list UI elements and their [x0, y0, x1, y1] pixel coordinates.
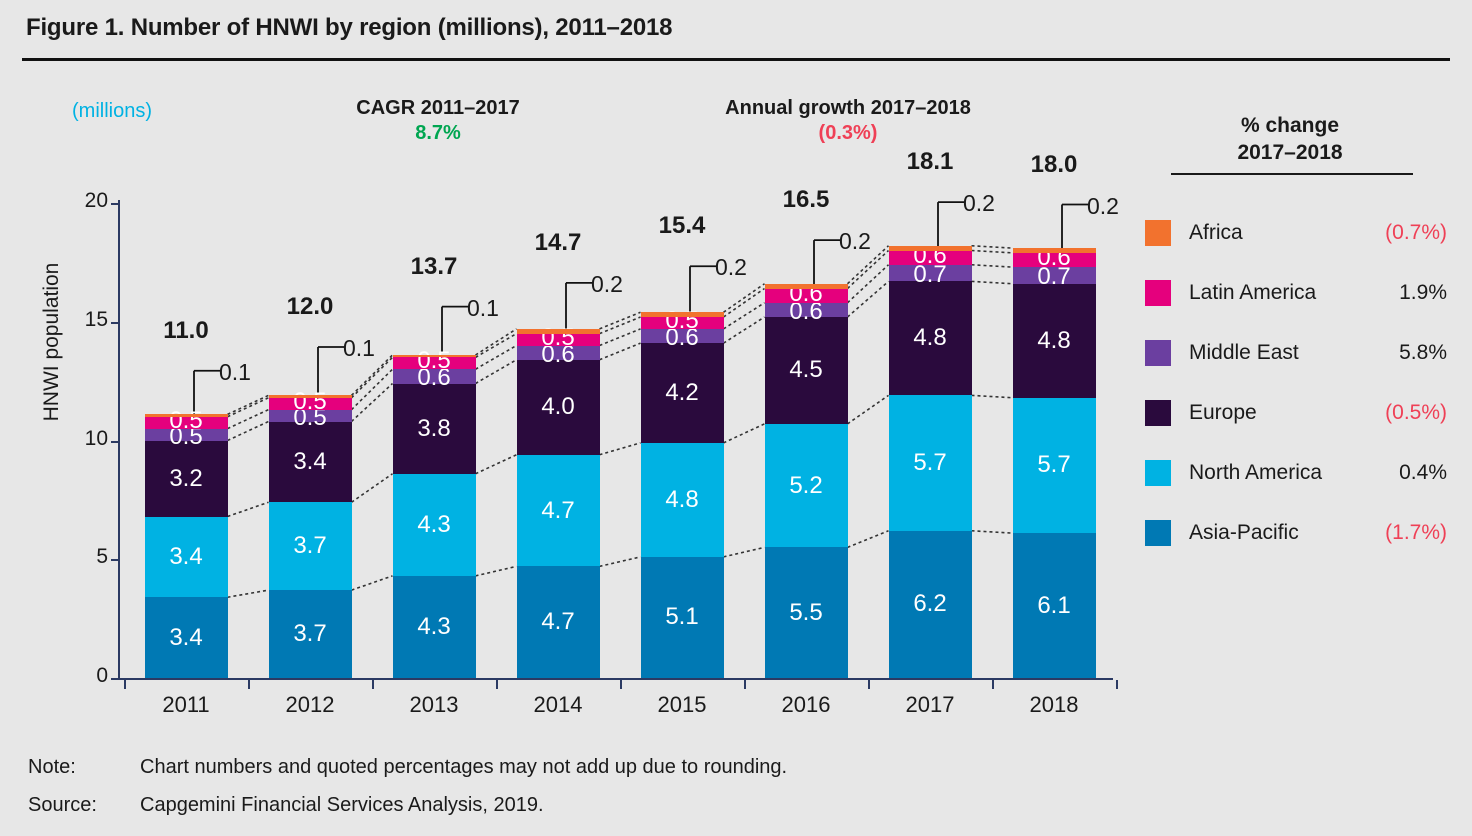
connector-line	[600, 557, 641, 567]
connector-line	[600, 343, 641, 360]
segment-middle-east[interactable]: 0.7	[889, 265, 972, 282]
connector-line	[848, 251, 889, 289]
connector-line	[228, 398, 269, 417]
segment-latin-america[interactable]: 0.5	[393, 357, 476, 369]
africa-callout-label: 0.2	[839, 228, 871, 255]
segment-asia-pacific[interactable]: 6.1	[1013, 533, 1096, 678]
africa-callout-label: 0.1	[219, 359, 251, 386]
segment-asia-pacific[interactable]: 4.3	[393, 576, 476, 678]
segment-africa[interactable]	[269, 395, 352, 397]
segment-value-label: 4.3	[417, 513, 450, 537]
connector-line	[600, 329, 641, 346]
y-axis-tick-label: 15	[64, 308, 108, 332]
connector-line	[352, 384, 393, 422]
segment-value-label: 6.2	[913, 592, 946, 616]
segment-value-label: 3.4	[293, 450, 326, 474]
note-label: Note:	[28, 756, 76, 779]
segment-value-label: 5.1	[665, 605, 698, 629]
segment-asia-pacific[interactable]: 6.2	[889, 531, 972, 678]
legend-item-label: Africa	[1189, 221, 1243, 245]
legend-heading-line2: 2017–2018	[1237, 141, 1342, 164]
segment-europe[interactable]: 4.8	[889, 281, 972, 395]
africa-callout-label: 0.2	[963, 190, 995, 217]
connector-line	[600, 317, 641, 334]
legend-item-label: Europe	[1189, 401, 1257, 425]
bar-2015[interactable]: 5.14.84.20.60.5	[641, 312, 724, 678]
segment-latin-america[interactable]: 0.6	[889, 251, 972, 265]
connector-line	[476, 329, 517, 355]
x-axis-tick-label: 2015	[622, 692, 742, 718]
legend-item-africa[interactable]: Africa(0.7%)	[1145, 213, 1455, 253]
connector-line	[724, 424, 765, 443]
segment-north-america[interactable]: 5.7	[1013, 398, 1096, 533]
legend-item-percent: (0.7%)	[1385, 221, 1455, 245]
segment-europe[interactable]: 4.2	[641, 343, 724, 443]
legend-item-percent: 5.8%	[1399, 341, 1455, 365]
bar-2013[interactable]: 4.34.33.80.60.5	[393, 353, 476, 678]
x-axis-tick-label: 2011	[126, 692, 246, 718]
x-axis-tick-mark	[868, 680, 870, 689]
segment-asia-pacific[interactable]: 5.1	[641, 557, 724, 678]
x-axis-tick-mark	[248, 680, 250, 689]
segment-value-label: 3.2	[169, 467, 202, 491]
segment-europe[interactable]: 4.0	[517, 360, 600, 455]
segment-middle-east[interactable]: 0.7	[1013, 267, 1096, 284]
connector-line	[848, 395, 889, 424]
connector-line	[476, 334, 517, 358]
connector-line	[972, 251, 1013, 253]
segment-europe[interactable]: 3.4	[269, 422, 352, 503]
bar-2014[interactable]: 4.74.74.00.60.5	[517, 329, 600, 678]
segment-europe[interactable]: 4.5	[765, 317, 848, 424]
segment-africa[interactable]	[145, 414, 228, 416]
africa-callout-label: 0.1	[467, 295, 499, 322]
connector-line	[476, 360, 517, 384]
segment-latin-america[interactable]: 0.6	[765, 289, 848, 303]
bar-total-label: 18.0	[984, 151, 1124, 179]
legend-rows: Africa(0.7%)Latin America1.9%Middle East…	[1145, 213, 1455, 553]
connector-line	[972, 281, 1013, 283]
segment-latin-america[interactable]: 0.5	[269, 398, 352, 410]
segment-middle-east[interactable]: 0.6	[641, 329, 724, 343]
x-axis-tick-label: 2013	[374, 692, 494, 718]
y-axis-tick-label: 0	[64, 664, 108, 688]
x-axis-tick-mark	[620, 680, 622, 689]
connector-line	[724, 289, 765, 318]
segment-value-label: 4.8	[913, 326, 946, 350]
segment-value-label: 4.5	[789, 358, 822, 382]
segment-value-label: 4.8	[665, 488, 698, 512]
segment-middle-east[interactable]: 0.5	[145, 429, 228, 441]
legend-item-label: Middle East	[1189, 341, 1299, 365]
segment-value-label: 4.2	[665, 381, 698, 405]
y-axis-tick-mark	[111, 559, 120, 561]
y-axis-title: HNWI population	[40, 232, 64, 452]
legend-item-europe[interactable]: Europe(0.5%)	[1145, 393, 1455, 433]
connector-line	[228, 590, 269, 597]
connector-line	[352, 576, 393, 590]
connector-line	[228, 395, 269, 414]
africa-callout-label: 0.2	[591, 271, 623, 298]
segment-asia-pacific[interactable]: 3.4	[145, 597, 228, 678]
segment-africa[interactable]	[889, 246, 972, 251]
x-axis-tick-mark	[744, 680, 746, 689]
segment-value-label: 3.7	[293, 622, 326, 646]
y-axis-tick-mark	[111, 441, 120, 443]
source-label: Source:	[28, 794, 97, 817]
bar-2011[interactable]: 3.43.43.20.50.5	[145, 417, 228, 678]
x-axis-tick-mark	[992, 680, 994, 689]
x-axis-tick-label: 2018	[994, 692, 1114, 718]
bar-total-label: 16.5	[736, 186, 876, 214]
legend-item-percent: (1.7%)	[1385, 521, 1455, 545]
legend-item-label: Asia-Pacific	[1189, 521, 1299, 545]
connector-line	[724, 317, 765, 343]
segment-europe[interactable]: 3.2	[145, 441, 228, 517]
legend-item-middle-east[interactable]: Middle East5.8%	[1145, 333, 1455, 373]
connector-line	[352, 357, 393, 397]
segment-middle-east[interactable]: 0.6	[517, 346, 600, 360]
segment-middle-east[interactable]: 0.5	[269, 410, 352, 422]
bar-total-label: 11.0	[116, 317, 256, 345]
legend-item-label: North America	[1189, 461, 1322, 485]
segment-north-america[interactable]: 4.3	[393, 474, 476, 576]
bar-total-label: 14.7	[488, 229, 628, 257]
segment-africa[interactable]	[393, 355, 476, 357]
segment-value-label: 3.7	[293, 534, 326, 558]
connector-line	[352, 474, 393, 503]
segment-latin-america[interactable]: 0.5	[641, 317, 724, 329]
stacked-bar-chart: HNWI population 05101520 201120122013201…	[0, 0, 1160, 740]
segment-north-america[interactable]: 5.2	[765, 424, 848, 548]
connector-line	[972, 531, 1013, 533]
y-axis-tick-mark	[111, 678, 120, 680]
y-axis-tick-label: 10	[64, 427, 108, 451]
segment-africa[interactable]	[517, 329, 600, 334]
segment-latin-america[interactable]: 0.5	[517, 334, 600, 346]
segment-value-label: 3.4	[169, 545, 202, 569]
x-axis-tick-label: 2017	[870, 692, 990, 718]
note-text: Chart numbers and quoted percentages may…	[140, 756, 787, 779]
segment-north-america[interactable]: 3.7	[269, 502, 352, 590]
legend-item-north-america[interactable]: North America0.4%	[1145, 453, 1455, 493]
segment-north-america[interactable]: 3.4	[145, 517, 228, 598]
legend-item-asia-pacific[interactable]: Asia-Pacific(1.7%)	[1145, 513, 1455, 553]
connector-line	[228, 502, 269, 516]
segment-latin-america[interactable]: 0.6	[1013, 253, 1096, 267]
segment-north-america[interactable]: 4.7	[517, 455, 600, 567]
segment-asia-pacific[interactable]: 3.7	[269, 590, 352, 678]
segment-value-label: 6.1	[1037, 594, 1070, 618]
segment-asia-pacific[interactable]: 5.5	[765, 547, 848, 678]
legend-swatch-icon	[1145, 340, 1171, 366]
bar-2016[interactable]: 5.55.24.50.60.6	[765, 286, 848, 678]
connector-line	[724, 303, 765, 329]
x-axis-tick-mark	[372, 680, 374, 689]
x-axis-tick-mark	[496, 680, 498, 689]
legend-swatch-icon	[1145, 460, 1171, 486]
x-axis-tick-label: 2016	[746, 692, 866, 718]
connector-line	[476, 346, 517, 370]
connector-line	[600, 312, 641, 329]
legend-swatch-icon	[1145, 520, 1171, 546]
segment-asia-pacific[interactable]: 4.7	[517, 566, 600, 678]
segment-middle-east[interactable]: 0.6	[765, 303, 848, 317]
africa-callout-label: 0.2	[715, 254, 747, 281]
legend-item-percent: 1.9%	[1399, 281, 1455, 305]
segment-north-america[interactable]: 4.8	[641, 443, 724, 557]
legend-swatch-icon	[1145, 220, 1171, 246]
x-axis-tick-label: 2014	[498, 692, 618, 718]
legend-swatch-icon	[1145, 280, 1171, 306]
connector-line	[972, 395, 1013, 397]
connector-line	[972, 265, 1013, 267]
connector-line	[848, 531, 889, 548]
bar-total-label: 12.0	[240, 293, 380, 321]
x-axis-tick-mark	[124, 680, 126, 689]
bar-total-label: 13.7	[364, 253, 504, 281]
segment-value-label: 3.8	[417, 417, 450, 441]
segment-value-label: 4.7	[541, 499, 574, 523]
connector-line	[848, 265, 889, 303]
segment-north-america[interactable]: 5.7	[889, 395, 972, 530]
legend-heading: % change 2017–2018	[1145, 112, 1435, 167]
segment-europe[interactable]: 4.8	[1013, 284, 1096, 398]
legend-item-percent: (0.5%)	[1385, 401, 1455, 425]
x-axis-tick-mark	[1116, 680, 1118, 689]
segment-africa[interactable]	[641, 312, 724, 317]
legend-item-percent: 0.4%	[1399, 461, 1455, 485]
bar-2017[interactable]: 6.25.74.80.70.6	[889, 248, 972, 678]
segment-value-label: 4.3	[417, 615, 450, 639]
legend-item-label: Latin America	[1189, 281, 1316, 305]
bar-total-label: 15.4	[612, 212, 752, 240]
segment-value-label: 4.8	[1037, 329, 1070, 353]
bar-2012[interactable]: 3.73.73.40.50.5	[269, 393, 352, 678]
connector-line	[228, 422, 269, 441]
segment-value-label: 5.2	[789, 474, 822, 498]
segment-middle-east[interactable]: 0.6	[393, 369, 476, 383]
connector-line	[352, 369, 393, 409]
africa-callout-label: 0.1	[343, 335, 375, 362]
x-axis-tick-label: 2012	[250, 692, 370, 718]
bar-total-label: 18.1	[860, 148, 1000, 176]
segment-africa[interactable]	[765, 284, 848, 289]
connector-line	[476, 455, 517, 474]
connector-line	[724, 284, 765, 313]
x-axis-line	[118, 678, 1113, 680]
legend-divider	[1171, 173, 1413, 175]
source-text: Capgemini Financial Services Analysis, 2…	[140, 794, 544, 817]
segment-value-label: 3.4	[169, 626, 202, 650]
connector-line	[724, 547, 765, 557]
segment-europe[interactable]: 3.8	[393, 384, 476, 474]
y-axis-tick-mark	[111, 203, 120, 205]
segment-latin-america[interactable]: 0.5	[145, 417, 228, 429]
segment-value-label: 5.7	[913, 451, 946, 475]
connector-line	[600, 443, 641, 455]
segment-value-label: 4.7	[541, 610, 574, 634]
segment-value-label: 5.7	[1037, 453, 1070, 477]
segment-africa[interactable]	[1013, 248, 1096, 253]
legend: % change 2017–2018 Africa(0.7%)Latin Ame…	[1145, 112, 1455, 553]
bar-2018[interactable]: 6.15.74.80.70.6	[1013, 251, 1096, 679]
connector-line	[848, 281, 889, 317]
y-axis-tick-label: 5	[64, 545, 108, 569]
connector-line	[476, 566, 517, 576]
segment-value-label: 4.0	[541, 395, 574, 419]
y-axis-tick-label: 20	[64, 189, 108, 213]
legend-heading-line1: % change	[1241, 114, 1339, 137]
africa-callout-label: 0.2	[1087, 193, 1119, 220]
legend-swatch-icon	[1145, 400, 1171, 426]
segment-value-label: 5.5	[789, 601, 822, 625]
connector-line	[228, 410, 269, 429]
legend-item-latin-america[interactable]: Latin America1.9%	[1145, 273, 1455, 313]
connector-line	[972, 246, 1013, 248]
